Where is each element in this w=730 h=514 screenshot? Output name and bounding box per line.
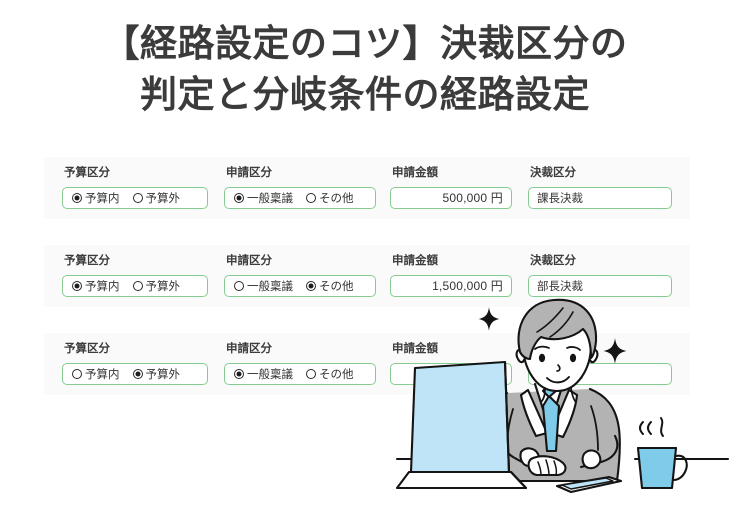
radio-dot-icon[interactable] xyxy=(133,193,143,203)
radio-dot-icon[interactable] xyxy=(306,369,316,379)
input-application-amount[interactable]: 1,500,000 円 xyxy=(390,275,512,297)
radio-label-apply-0: 一般稟議 xyxy=(247,190,293,206)
field-application-category: 申請区分 一般稟議 その他 xyxy=(224,157,376,209)
radio-option-apply-0[interactable]: 一般稟議 xyxy=(234,278,293,294)
radio-option-budget-1[interactable]: 予算外 xyxy=(133,190,181,206)
label-budget-category: 予算区分 xyxy=(62,245,208,268)
radio-dot-icon[interactable] xyxy=(133,281,143,291)
form-row: 予算区分 予算内 予算外 申請区分 一般稟議 xyxy=(44,245,690,307)
field-budget-category: 予算区分 予算内 予算外 xyxy=(62,245,208,297)
radio-label-budget-1: 予算外 xyxy=(146,190,181,206)
radio-label-apply-1: その他 xyxy=(319,190,354,206)
field-application-category: 申請区分 一般稟議 その他 xyxy=(224,333,376,385)
arms-hands xyxy=(501,429,617,475)
radio-option-apply-1[interactable]: その他 xyxy=(306,278,354,294)
field-application-category: 申請区分 一般稟議 その他 xyxy=(224,245,376,297)
page-title: 【経路設定のコツ】決裁区分の 判定と分岐条件の経路設定 xyxy=(0,18,730,120)
form-row: 予算区分 予算内 予算外 申請区分 一般稟議 xyxy=(44,157,690,219)
field-approval-category: 決裁区分 部長決裁 xyxy=(528,245,672,297)
radio-group-budget-category[interactable]: 予算内 予算外 xyxy=(62,275,208,297)
radio-group-budget-category[interactable]: 予算内 予算外 xyxy=(62,187,208,209)
input-application-amount[interactable]: 3,500,000 円 xyxy=(390,363,512,385)
label-application-amount: 申請金額 xyxy=(390,333,512,356)
sparkle-icon xyxy=(478,307,500,331)
radio-group-application-category[interactable]: 一般稟議 その他 xyxy=(224,187,376,209)
field-application-amount: 申請金額 1,500,000 円 xyxy=(390,245,512,297)
radio-group-application-category[interactable]: 一般稟議 その他 xyxy=(224,363,376,385)
radio-group-budget-category[interactable]: 予算内 予算外 xyxy=(62,363,208,385)
input-approval-category[interactable]: 課長決裁 xyxy=(528,187,672,209)
smartphone xyxy=(557,477,621,492)
radio-dot-icon[interactable] xyxy=(133,369,143,379)
radio-label-budget-0: 予算内 xyxy=(85,190,120,206)
input-approval-category[interactable]: 役員決裁 xyxy=(528,363,672,385)
field-budget-category: 予算区分 予算内 予算外 xyxy=(62,157,208,209)
radio-option-budget-0[interactable]: 予算内 xyxy=(72,366,120,382)
radio-dot-icon[interactable] xyxy=(234,193,244,203)
form-row: 予算区分 予算内 予算外 申請区分 一般稟議 xyxy=(44,333,690,395)
field-budget-category: 予算区分 予算内 予算外 xyxy=(62,333,208,385)
radio-option-apply-1[interactable]: その他 xyxy=(306,366,354,382)
field-application-amount: 申請金額 3,500,000 円 xyxy=(390,333,512,385)
coffee-mug xyxy=(638,448,687,488)
label-approval-category: 決裁区分 xyxy=(528,157,672,180)
radio-option-apply-0[interactable]: 一般稟議 xyxy=(234,366,293,382)
radio-option-budget-0[interactable]: 予算内 xyxy=(72,190,120,206)
radio-label-budget-0: 予算内 xyxy=(85,366,120,382)
label-approval-category: 決裁区分 xyxy=(528,245,672,268)
input-approval-category[interactable]: 部長決裁 xyxy=(528,275,672,297)
label-application-category: 申請区分 xyxy=(224,245,376,268)
radio-dot-icon[interactable] xyxy=(72,369,82,379)
radio-dot-icon[interactable] xyxy=(234,369,244,379)
label-application-category: 申請区分 xyxy=(224,157,376,180)
input-application-amount[interactable]: 500,000 円 xyxy=(390,187,512,209)
radio-label-budget-0: 予算内 xyxy=(85,278,120,294)
radio-label-apply-0: 一般稟議 xyxy=(247,278,293,294)
page-title-line-2: 判定と分岐条件の経路設定 xyxy=(0,69,730,120)
radio-label-apply-1: その他 xyxy=(319,366,354,382)
radio-label-apply-1: その他 xyxy=(319,278,354,294)
businessman-at-laptop-illustration xyxy=(395,296,730,514)
field-application-amount: 申請金額 500,000 円 xyxy=(390,157,512,209)
radio-dot-icon[interactable] xyxy=(306,193,316,203)
field-approval-category: 決裁区分 課長決裁 xyxy=(528,157,672,209)
radio-label-budget-1: 予算外 xyxy=(146,278,181,294)
label-application-amount: 申請金額 xyxy=(390,245,512,268)
radio-dot-icon[interactable] xyxy=(234,281,244,291)
radio-dot-icon[interactable] xyxy=(72,193,82,203)
label-budget-category: 予算区分 xyxy=(62,157,208,180)
label-budget-category: 予算区分 xyxy=(62,333,208,356)
label-application-category: 申請区分 xyxy=(224,333,376,356)
field-approval-category: 決裁区分 役員決裁 xyxy=(528,333,672,385)
suit-body xyxy=(477,384,620,481)
radio-option-budget-1[interactable]: 予算外 xyxy=(133,366,181,382)
steam-icon xyxy=(640,418,663,436)
radio-group-application-category[interactable]: 一般稟議 その他 xyxy=(224,275,376,297)
radio-option-budget-1[interactable]: 予算外 xyxy=(133,278,181,294)
label-approval-category: 決裁区分 xyxy=(528,333,672,356)
poster-canvas: 【経路設定のコツ】決裁区分の 判定と分岐条件の経路設定 予算区分 予算内 予算外… xyxy=(0,0,730,514)
label-application-amount: 申請金額 xyxy=(390,157,512,180)
radio-label-budget-1: 予算外 xyxy=(146,366,181,382)
radio-option-budget-0[interactable]: 予算内 xyxy=(72,278,120,294)
radio-dot-icon[interactable] xyxy=(72,281,82,291)
radio-option-apply-1[interactable]: その他 xyxy=(306,190,354,206)
radio-label-apply-0: 一般稟議 xyxy=(247,366,293,382)
radio-option-apply-0[interactable]: 一般稟議 xyxy=(234,190,293,206)
page-title-line-1: 【経路設定のコツ】決裁区分の xyxy=(0,18,730,69)
radio-dot-icon[interactable] xyxy=(306,281,316,291)
